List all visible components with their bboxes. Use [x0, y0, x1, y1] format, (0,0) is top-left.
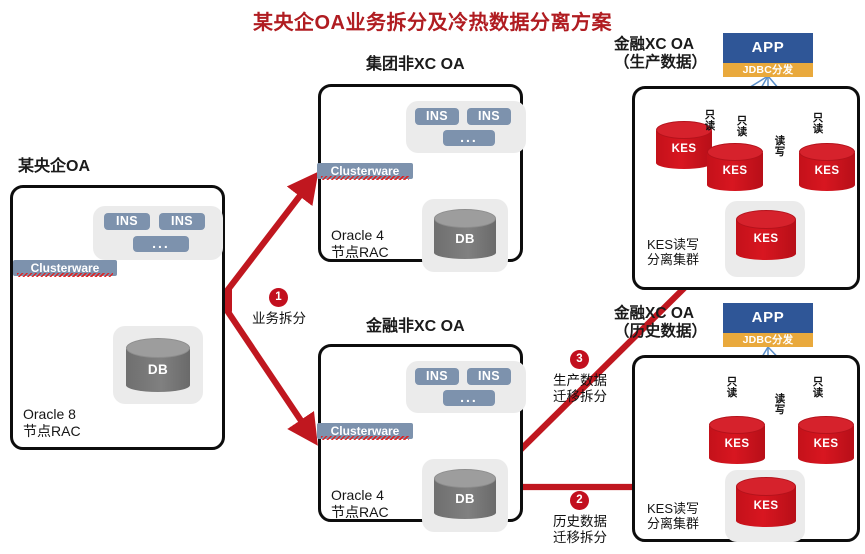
- xc1-kes-label-1: KES: [709, 438, 765, 450]
- xc1-jdbc-bar[interactable]: JDBC分发: [723, 333, 813, 347]
- split1-db-cylinder[interactable]: DB: [434, 469, 496, 519]
- split-system-1-caption: 金融非XC OA: [366, 318, 465, 337]
- split0-ins-more[interactable]: ...: [443, 130, 495, 146]
- source-rac-line2: 节点RAC: [23, 423, 81, 440]
- split1-clusterware[interactable]: Clusterware: [317, 423, 413, 439]
- source-ins-1[interactable]: INS: [104, 213, 150, 230]
- xc1-jdbc-label: JDBC分发: [743, 334, 794, 346]
- source-ins-more[interactable]: ...: [133, 236, 189, 252]
- xc1-cluster-label: KES读写 分离集群: [647, 501, 699, 532]
- xc0-readonly-kes-3[interactable]: KES: [799, 143, 855, 191]
- step-1-badge[interactable]: 1: [269, 288, 288, 307]
- page-title: 某央企OA业务拆分及冷热数据分离方案: [0, 6, 865, 35]
- split0-rac-line2: 节点RAC: [331, 244, 389, 261]
- xc1-app-box[interactable]: APP: [723, 303, 813, 333]
- source-db-label: DB: [126, 362, 190, 377]
- step-2-line1: 历史数据: [537, 514, 623, 530]
- split1-rac-line1: Oracle 4: [331, 487, 389, 504]
- diagram-canvas: 某央企OA业务拆分及冷热数据分离方案: [0, 0, 865, 554]
- step-1-line1: 业务拆分: [243, 311, 315, 327]
- split0-db-label: DB: [434, 231, 496, 246]
- xc0-readwrite-kes-label: KES: [736, 233, 796, 245]
- xc1-caption-line1: 金融XC OA: [614, 305, 707, 323]
- step-2-line2: 迁移拆分: [537, 530, 623, 546]
- spellcheck-squiggle-icon: [321, 436, 409, 440]
- xc0-jdbc-label: JDBC分发: [743, 64, 794, 76]
- step-2-text: 历史数据 迁移拆分: [537, 514, 623, 546]
- xc0-jdbc-bar[interactable]: JDBC分发: [723, 63, 813, 77]
- xc-cluster-1-box[interactable]: KES KES KES KES读写 分离集群: [632, 355, 860, 542]
- xc1-readwrite-kes[interactable]: KES: [736, 477, 796, 527]
- split0-clusterware[interactable]: Clusterware: [317, 163, 413, 179]
- spellcheck-squiggle-icon: [321, 176, 409, 180]
- step-3-text: 生产数据 迁移拆分: [537, 373, 623, 405]
- split1-ins-2[interactable]: INS: [467, 368, 511, 385]
- split1-db-label: DB: [434, 491, 496, 506]
- xc1-readonly-kes-1[interactable]: KES: [709, 416, 765, 464]
- xc0-caption-line1: 金融XC OA: [614, 36, 707, 54]
- xc0-cluster-label: KES读写 分离集群: [647, 237, 699, 268]
- step-1-text: 业务拆分: [243, 311, 315, 327]
- step-3-line1: 生产数据: [537, 373, 623, 389]
- xc0-readonly-tag-2: 只读: [736, 116, 748, 137]
- spellcheck-squiggle-icon: [17, 273, 113, 277]
- split1-rac-line2: 节点RAC: [331, 504, 389, 521]
- source-db-cylinder[interactable]: DB: [126, 338, 190, 392]
- split-system-0-box[interactable]: INS INS ... Clusterware DB Oracle 4 节点RA…: [318, 84, 523, 262]
- xc1-app-label: APP: [752, 309, 785, 326]
- xc0-kes-label-2: KES: [707, 165, 763, 177]
- xc0-readonly-kes-2[interactable]: KES: [707, 143, 763, 191]
- xc1-readonly-tag-1: 只读: [726, 377, 738, 398]
- xc1-readwrite-kes-label: KES: [736, 500, 796, 512]
- xc0-kes-label-3: KES: [799, 165, 855, 177]
- xc0-readonly-tag-3: 只读: [812, 113, 824, 134]
- step-3-line2: 迁移拆分: [537, 389, 623, 405]
- xc0-cluster-line2: 分离集群: [647, 252, 699, 267]
- step-2-badge[interactable]: 2: [570, 491, 589, 510]
- source-system-box[interactable]: INS INS ... Clusterware DB Oracle 8 节点RA…: [10, 185, 225, 450]
- xc0-readwrite-kes[interactable]: KES: [736, 210, 796, 260]
- xc1-cluster-line1: KES读写: [647, 501, 699, 516]
- xc0-readwrite-tag: 读写: [774, 136, 786, 157]
- xc0-app-label: APP: [752, 39, 785, 56]
- split0-db-cylinder[interactable]: DB: [434, 209, 496, 259]
- split0-rac-line1: Oracle 4: [331, 227, 389, 244]
- xc1-readwrite-tag: 读写: [774, 394, 786, 415]
- split0-ins-2[interactable]: INS: [467, 108, 511, 125]
- xc0-caption-line2: （生产数据）: [614, 54, 707, 72]
- xc0-kes-label-1: KES: [656, 143, 712, 155]
- source-rac-label: Oracle 8 节点RAC: [23, 406, 81, 439]
- split-system-0-caption: 集团非XC OA: [366, 56, 465, 75]
- split1-rac-label: Oracle 4 节点RAC: [331, 487, 389, 520]
- xc1-readonly-tag-2: 只读: [812, 377, 824, 398]
- xc-cluster-1-caption: 金融XC OA （历史数据）: [614, 305, 707, 342]
- xc1-readonly-kes-2[interactable]: KES: [798, 416, 854, 464]
- source-clusterware[interactable]: Clusterware: [13, 260, 117, 276]
- split0-ins-1[interactable]: INS: [415, 108, 459, 125]
- source-system-caption: 某央企OA: [18, 158, 90, 177]
- step-3-badge[interactable]: 3: [570, 350, 589, 369]
- xc1-caption-line2: （历史数据）: [614, 323, 707, 341]
- split0-rac-label: Oracle 4 节点RAC: [331, 227, 389, 260]
- xc1-kes-label-2: KES: [798, 438, 854, 450]
- xc0-readonly-tag-1: 只读: [704, 110, 716, 131]
- xc1-cluster-line2: 分离集群: [647, 516, 699, 531]
- split1-ins-more[interactable]: ...: [443, 390, 495, 406]
- xc-cluster-0-caption: 金融XC OA （生产数据）: [614, 36, 707, 73]
- source-rac-line1: Oracle 8: [23, 406, 81, 423]
- split-system-1-box[interactable]: INS INS ... Clusterware DB Oracle 4 节点RA…: [318, 344, 523, 522]
- split1-ins-1[interactable]: INS: [415, 368, 459, 385]
- source-ins-2[interactable]: INS: [159, 213, 205, 230]
- xc0-app-box[interactable]: APP: [723, 33, 813, 63]
- xc0-cluster-line1: KES读写: [647, 237, 699, 252]
